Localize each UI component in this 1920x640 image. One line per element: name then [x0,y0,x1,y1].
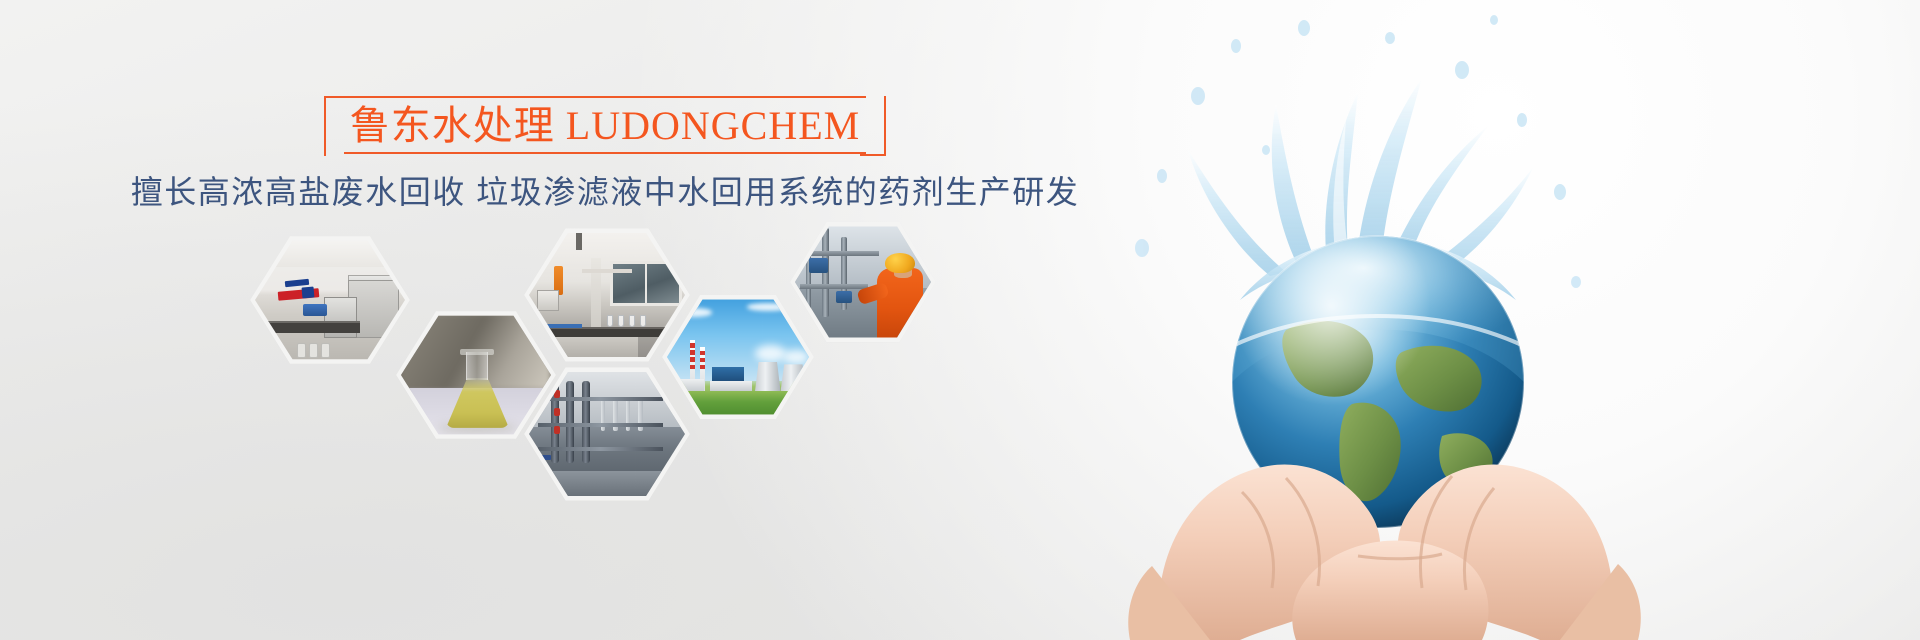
headline-block: 鲁东水处理 LUDONGCHEM 擅长高浓高盐废水回收 垃圾渗滤液中水回用系统的… [0,96,1210,214]
hex-tile-chem-lab[interactable]: 化学分析实验室玻璃器皿 [524,224,690,366]
hex-photo-lab-room [255,237,405,363]
page-subtitle: 擅长高浓高盐废水回收 垃圾渗滤液中水回用系统的药剂生产研发 [0,170,1210,214]
water-globe-svg [1090,0,1920,640]
hex-tile-lab-room[interactable]: 水处理实验室车间 [250,232,410,368]
title-rule-bottom [344,152,866,154]
hex-tile-power-plant[interactable]: 电厂冷却塔与烟囱 [662,291,814,423]
hex-photo-chem-lab [529,229,685,361]
page-title: 鲁东水处理 LUDONGCHEM [350,102,860,150]
title-rule-top [344,96,866,98]
hex-tile-alt: 化学分析实验室玻璃器皿 [524,224,525,225]
hero-banner: 鲁东水处理 LUDONGCHEM 擅长高浓高盐废水回收 垃圾渗滤液中水回用系统的… [0,0,1920,640]
hex-tile-worker[interactable]: 橙色工装技术人员操作管道阀门 [790,218,936,346]
hex-photo-flask [401,312,551,438]
hex-tile-alt: 橙色工装技术人员操作管道阀门 [790,218,791,219]
hex-photo-ro-skid [529,368,685,500]
title-frame: 鲁东水处理 LUDONGCHEM [324,96,886,154]
water-globe-artwork: 双手捧起的水花地球 [1090,0,1920,640]
hex-tile-alt: 水处理实验室车间 [250,232,251,233]
